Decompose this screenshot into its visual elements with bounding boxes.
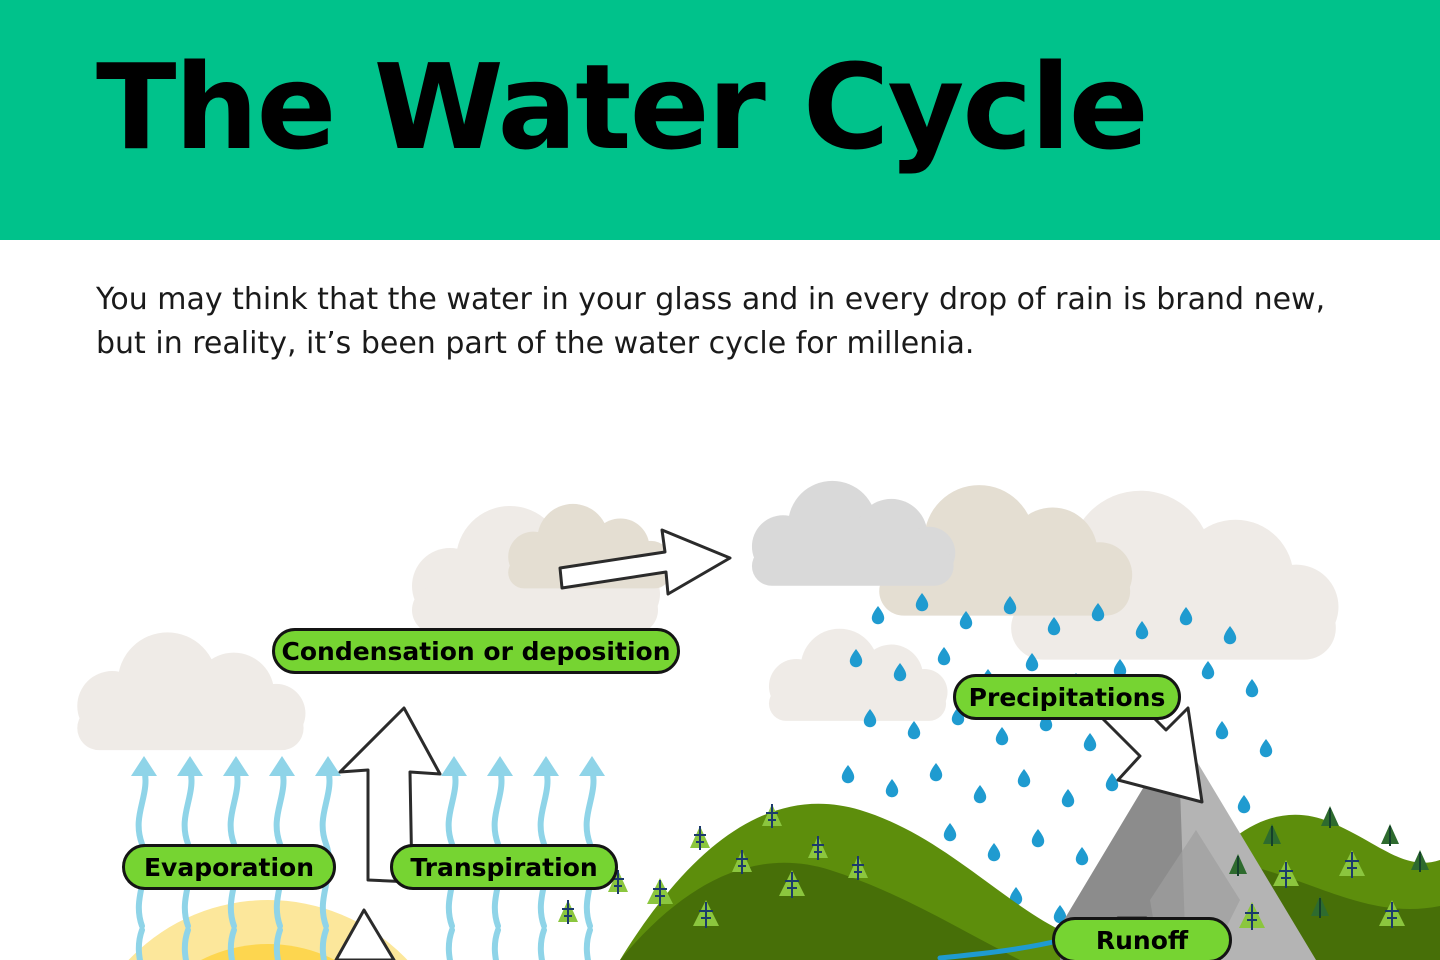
label-runoff[interactable]: Runoff xyxy=(1052,917,1232,960)
page-title: The Water Cycle xyxy=(96,48,1376,166)
infographic-page: The Water Cycle You may think that the w… xyxy=(0,0,1440,960)
label-transpiration[interactable]: Transpiration xyxy=(390,844,618,890)
hills-left xyxy=(620,804,1060,960)
label-precipitations[interactable]: Precipitations xyxy=(953,674,1181,720)
intro-paragraph: You may think that the water in your gla… xyxy=(96,278,1366,366)
cloud-small-mid xyxy=(769,629,948,721)
cloud-gray-storm xyxy=(752,481,955,586)
label-evaporation[interactable]: Evaporation xyxy=(122,844,336,890)
sun-icon xyxy=(76,900,460,960)
label-condensation[interactable]: Condensation or deposition xyxy=(272,628,680,674)
